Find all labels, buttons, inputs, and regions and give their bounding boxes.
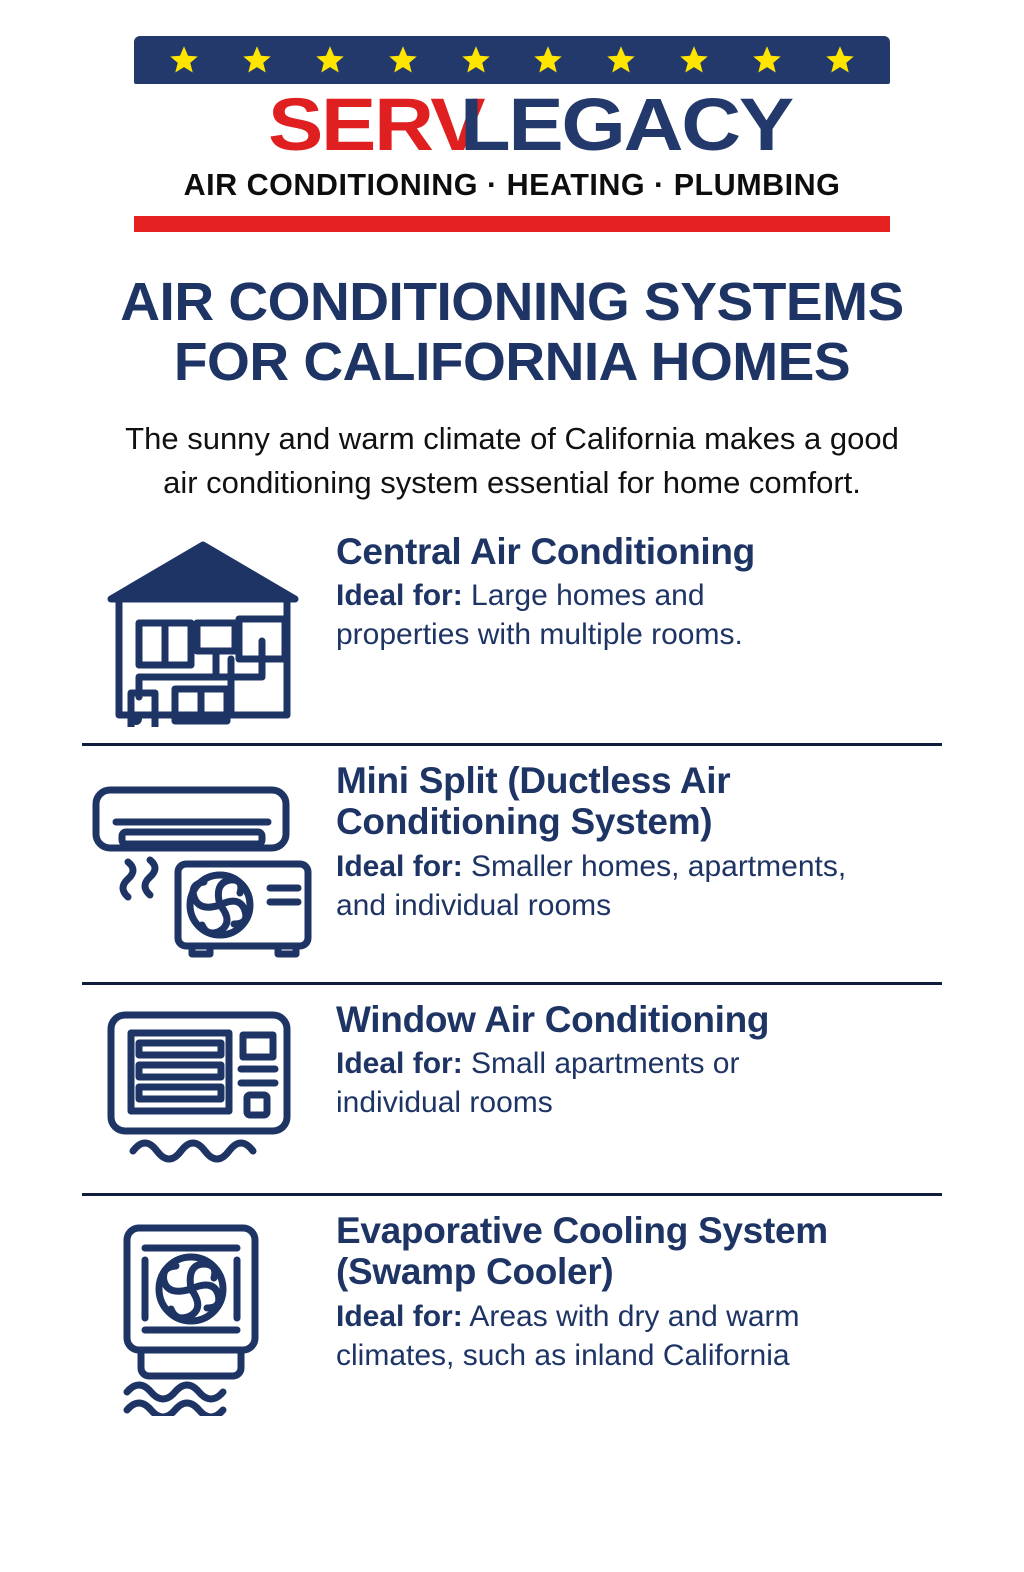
ideal-for-label: Ideal for: <box>336 1047 463 1080</box>
star-icon <box>242 45 272 75</box>
window-ac-glyph <box>97 1005 309 1177</box>
brand-tagline: AIR CONDITIONING · HEATING · PLUMBING <box>134 168 890 203</box>
ideal-for-line-1: Areas with dry and warm <box>463 1300 800 1333</box>
star-icon <box>315 45 345 75</box>
section-divider <box>82 743 942 746</box>
house-with-ducts-icon <box>78 531 328 727</box>
list-item-title: Central Air Conditioning <box>336 531 984 572</box>
page-title-line-2: FOR CALIFORNIA HOMES <box>0 332 1024 392</box>
list-item-title: Mini Split (Ductless Air Conditioning Sy… <box>336 760 984 843</box>
page-title-line-1: AIR CONDITIONING SYSTEMS <box>0 272 1024 332</box>
list-item-text: Window Air Conditioning Ideal for: Small… <box>328 999 984 1122</box>
brand-logo: SERV LEGACY AIR CONDITIONING · HEATING ·… <box>134 36 890 232</box>
page-subtitle-line-2: air conditioning system essential for ho… <box>62 461 962 505</box>
list-item-description: Ideal for: Areas with dry and warm clima… <box>336 1297 984 1375</box>
list-item-description: Ideal for: Large homes and properties wi… <box>336 576 984 654</box>
list-item-title-line-2: (Swamp Cooler) <box>336 1251 613 1292</box>
ideal-for-line-1: Small apartments or <box>463 1047 740 1080</box>
brand-wordmark: SERV LEGACY <box>134 88 890 162</box>
star-icon <box>825 45 855 75</box>
ideal-for-line-1: Large homes and <box>463 579 705 612</box>
wordmark-serv: SERV <box>268 88 483 162</box>
evaporative-cooler-glyph <box>105 1216 301 1416</box>
ideal-for-label: Ideal for: <box>336 1300 463 1333</box>
ideal-for-line-2: climates, such as inland California <box>336 1339 790 1372</box>
star-icon <box>606 45 636 75</box>
star-icon <box>533 45 563 75</box>
list-item: Window Air Conditioning Ideal for: Small… <box>0 999 1024 1177</box>
ideal-for-line-1: Smaller homes, apartments, <box>463 850 846 883</box>
star-icon <box>388 45 418 75</box>
wordmark-legacy: LEGACY <box>460 88 792 162</box>
window-air-conditioner-icon <box>78 999 328 1177</box>
list-item-text: Mini Split (Ductless Air Conditioning Sy… <box>328 760 984 925</box>
section-divider <box>82 982 942 985</box>
list-item: Central Air Conditioning Ideal for: Larg… <box>0 531 1024 727</box>
ideal-for-label: Ideal for: <box>336 850 463 883</box>
section-divider <box>82 1193 942 1196</box>
page-title: AIR CONDITIONING SYSTEMS FOR CALIFORNIA … <box>0 272 1024 393</box>
list-item-text: Central Air Conditioning Ideal for: Larg… <box>328 531 984 654</box>
list-item-description: Ideal for: Smaller homes, apartments, an… <box>336 847 984 925</box>
list-item-title-line-2: Conditioning System) <box>336 801 712 842</box>
list-item-title-line-1: Mini Split (Ductless Air <box>336 760 730 801</box>
ideal-for-label: Ideal for: <box>336 579 463 612</box>
ideal-for-line-2: and individual rooms <box>336 889 611 922</box>
page-subtitle-line-1: The sunny and warm climate of California… <box>62 417 962 461</box>
list-item: Mini Split (Ductless Air Conditioning Sy… <box>0 760 1024 966</box>
star-icon <box>461 45 491 75</box>
page-subtitle: The sunny and warm climate of California… <box>0 417 1024 505</box>
list-item-title-line-1: Evaporative Cooling System <box>336 1210 828 1251</box>
ideal-for-line-2: properties with multiple rooms. <box>336 618 743 651</box>
star-icon <box>169 45 199 75</box>
star-icon <box>679 45 709 75</box>
star-bar <box>134 36 890 84</box>
house-with-ducts-glyph <box>93 537 313 727</box>
list-item: Evaporative Cooling System (Swamp Cooler… <box>0 1210 1024 1416</box>
list-item-title: Evaporative Cooling System (Swamp Cooler… <box>336 1210 984 1293</box>
list-item-title: Window Air Conditioning <box>336 999 984 1040</box>
ac-systems-list: Central Air Conditioning Ideal for: Larg… <box>0 531 1024 1416</box>
mini-split-indoor-outdoor-unit-icon <box>78 760 328 966</box>
mini-split-glyph <box>92 766 314 966</box>
brand-red-bar <box>134 216 890 232</box>
ideal-for-line-2: individual rooms <box>336 1086 553 1119</box>
star-icon <box>752 45 782 75</box>
evaporative-cooler-fan-icon <box>78 1210 328 1416</box>
list-item-text: Evaporative Cooling System (Swamp Cooler… <box>328 1210 984 1375</box>
list-item-description: Ideal for: Small apartments or individua… <box>336 1044 984 1122</box>
